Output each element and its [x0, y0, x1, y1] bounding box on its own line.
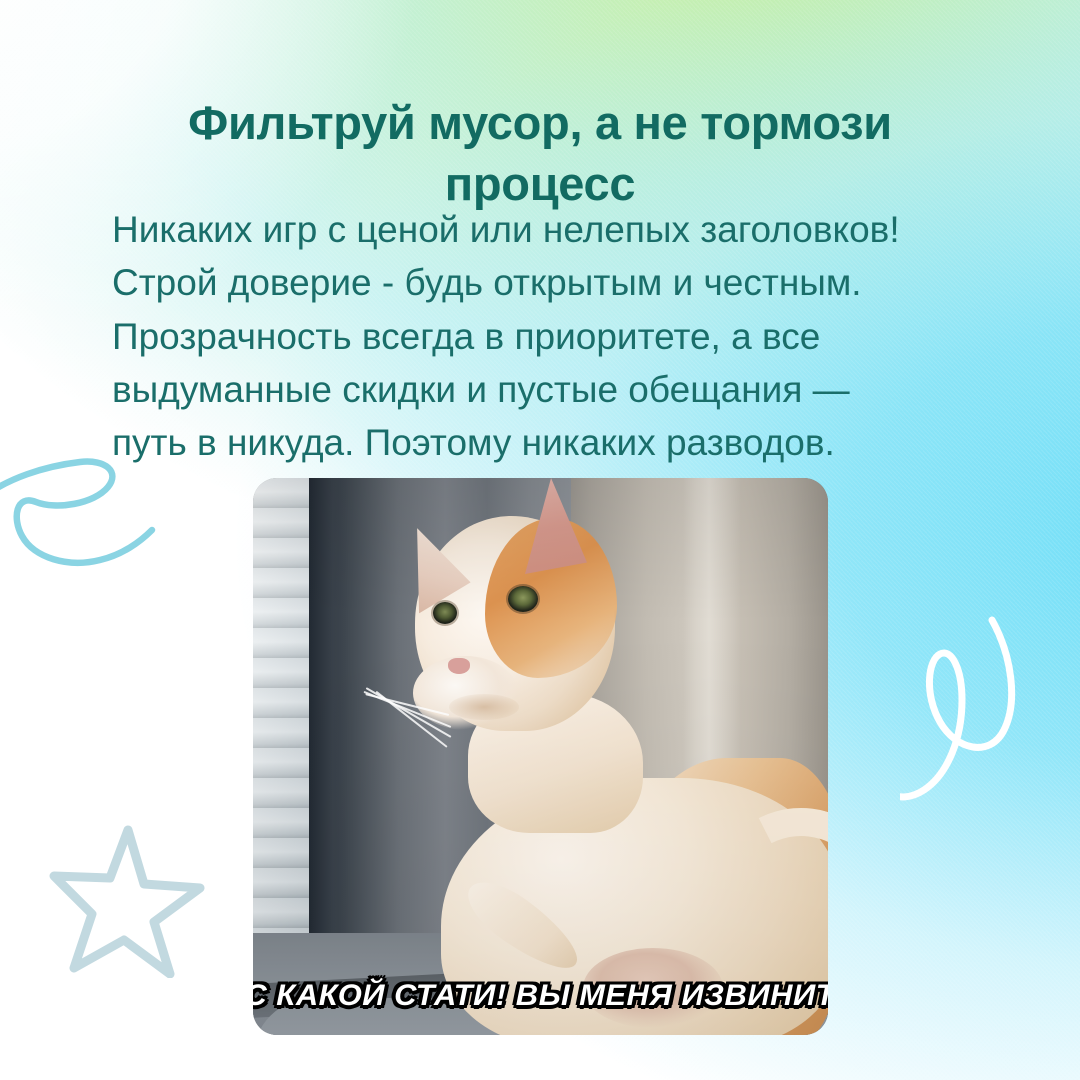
- photo-color-grade: [253, 478, 828, 1035]
- body-line: Никаких игр с ценой или нелепых заголовк…: [112, 203, 972, 256]
- body-line: выдуманные скидки и пустые обещания —: [112, 363, 972, 416]
- body-copy: Никаких игр с ценой или нелепых заголовк…: [112, 203, 972, 469]
- cat-photo-card: С КАКОЙ СТАТИ! ВЫ МЕНЯ ИЗВИНИТЕ: [253, 478, 828, 1035]
- body-line: Строй доверие - будь открытым и честным.: [112, 256, 972, 309]
- body-line: путь в никуда. Поэтому никаких разводов.: [112, 416, 972, 469]
- poster-canvas: Фильтруй мусор, а не тормози процесс Ник…: [0, 0, 1080, 1080]
- photo-caption: С КАКОЙ СТАТИ! ВЫ МЕНЯ ИЗВИНИТЕ: [253, 979, 828, 1013]
- body-line: Прозрачность всегда в приоритете, а все: [112, 310, 972, 363]
- page-title: Фильтруй мусор, а не тормози процесс: [96, 93, 984, 213]
